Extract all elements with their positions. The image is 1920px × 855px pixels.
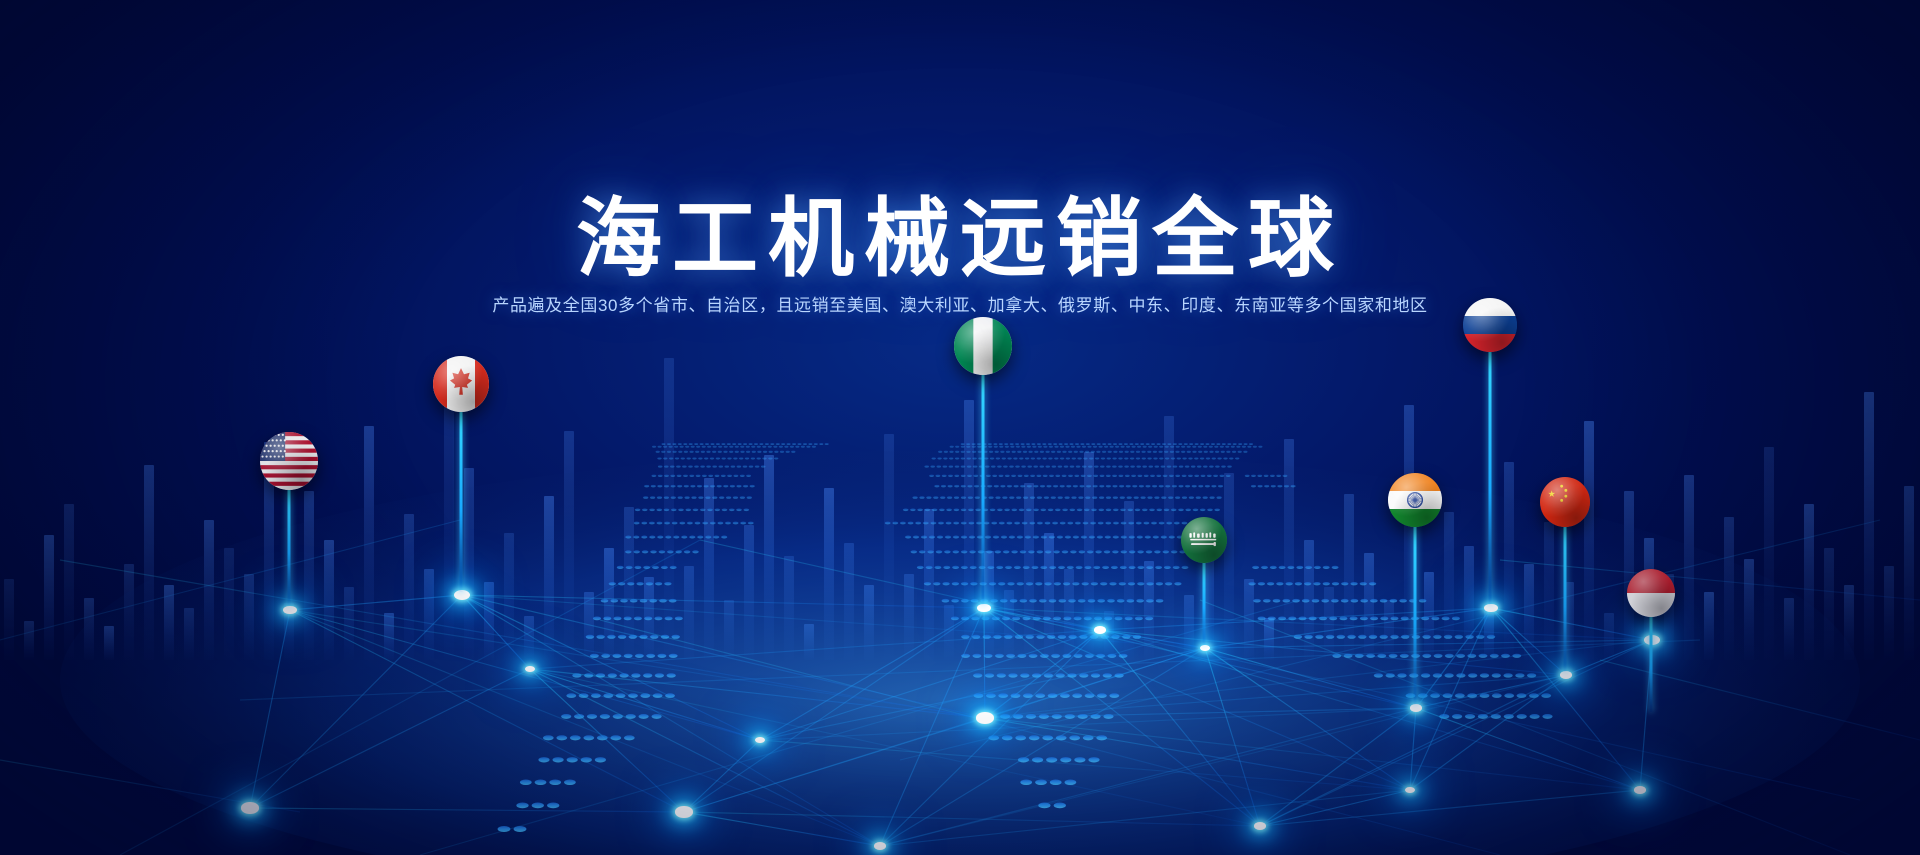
- flag-icon-in[interactable]: [1388, 473, 1442, 527]
- pin-stick: [1563, 527, 1566, 672]
- network-node: [1644, 635, 1660, 645]
- page-subtitle: 产品遍及全国30多个省市、自治区，且远销至美国、澳大利亚、加拿大、俄罗斯、中东、…: [0, 294, 1920, 318]
- flag-icon-us[interactable]: [260, 432, 318, 490]
- flag-icon-ng[interactable]: [954, 317, 1012, 375]
- pin-stick: [981, 375, 984, 605]
- network-node: [976, 712, 994, 723]
- network-overlay: [0, 0, 1920, 855]
- flag-pin-nigeria[interactable]: [982, 375, 983, 605]
- pin-stick: [1202, 563, 1205, 645]
- network-node: [454, 590, 470, 600]
- pin-stick: [459, 412, 462, 592]
- flag-pin-canada[interactable]: [460, 412, 461, 592]
- network-node: [1560, 671, 1572, 678]
- pin-stick: [1413, 527, 1416, 705]
- flag-pin-china[interactable]: [1564, 527, 1565, 672]
- pin-stick: [287, 490, 290, 605]
- pin-stick: [1488, 352, 1491, 605]
- flag-icon-cn[interactable]: [1540, 477, 1590, 527]
- flag-icon-ca[interactable]: [433, 356, 489, 412]
- network-node: [675, 806, 693, 817]
- network-node: [1405, 787, 1415, 793]
- network-node: [1634, 786, 1646, 793]
- flag-pin-united-states[interactable]: [288, 490, 289, 605]
- network-node: [241, 802, 259, 813]
- page-title: 海工机械远销全球: [0, 196, 1920, 282]
- network-node: [1410, 704, 1422, 711]
- hero-banner: 海工机械远销全球 产品遍及全国30多个省市、自治区，且远销至美国、澳大利亚、加拿…: [0, 0, 1920, 855]
- network-node: [525, 666, 535, 672]
- pin-stick: [1649, 617, 1652, 712]
- network-node: [755, 737, 765, 743]
- flag-pin-saudi-arabia[interactable]: [1203, 563, 1204, 645]
- flag-pin-russia[interactable]: [1489, 352, 1490, 605]
- network-node: [874, 842, 886, 849]
- network-node: [1200, 645, 1210, 651]
- flag-pin-indonesia[interactable]: [1650, 617, 1651, 712]
- network-node: [1254, 822, 1266, 829]
- network-node: [1094, 626, 1106, 633]
- flag-icon-id[interactable]: [1627, 569, 1675, 617]
- flag-pin-india[interactable]: [1414, 527, 1415, 705]
- flag-icon-sa[interactable]: [1181, 517, 1227, 563]
